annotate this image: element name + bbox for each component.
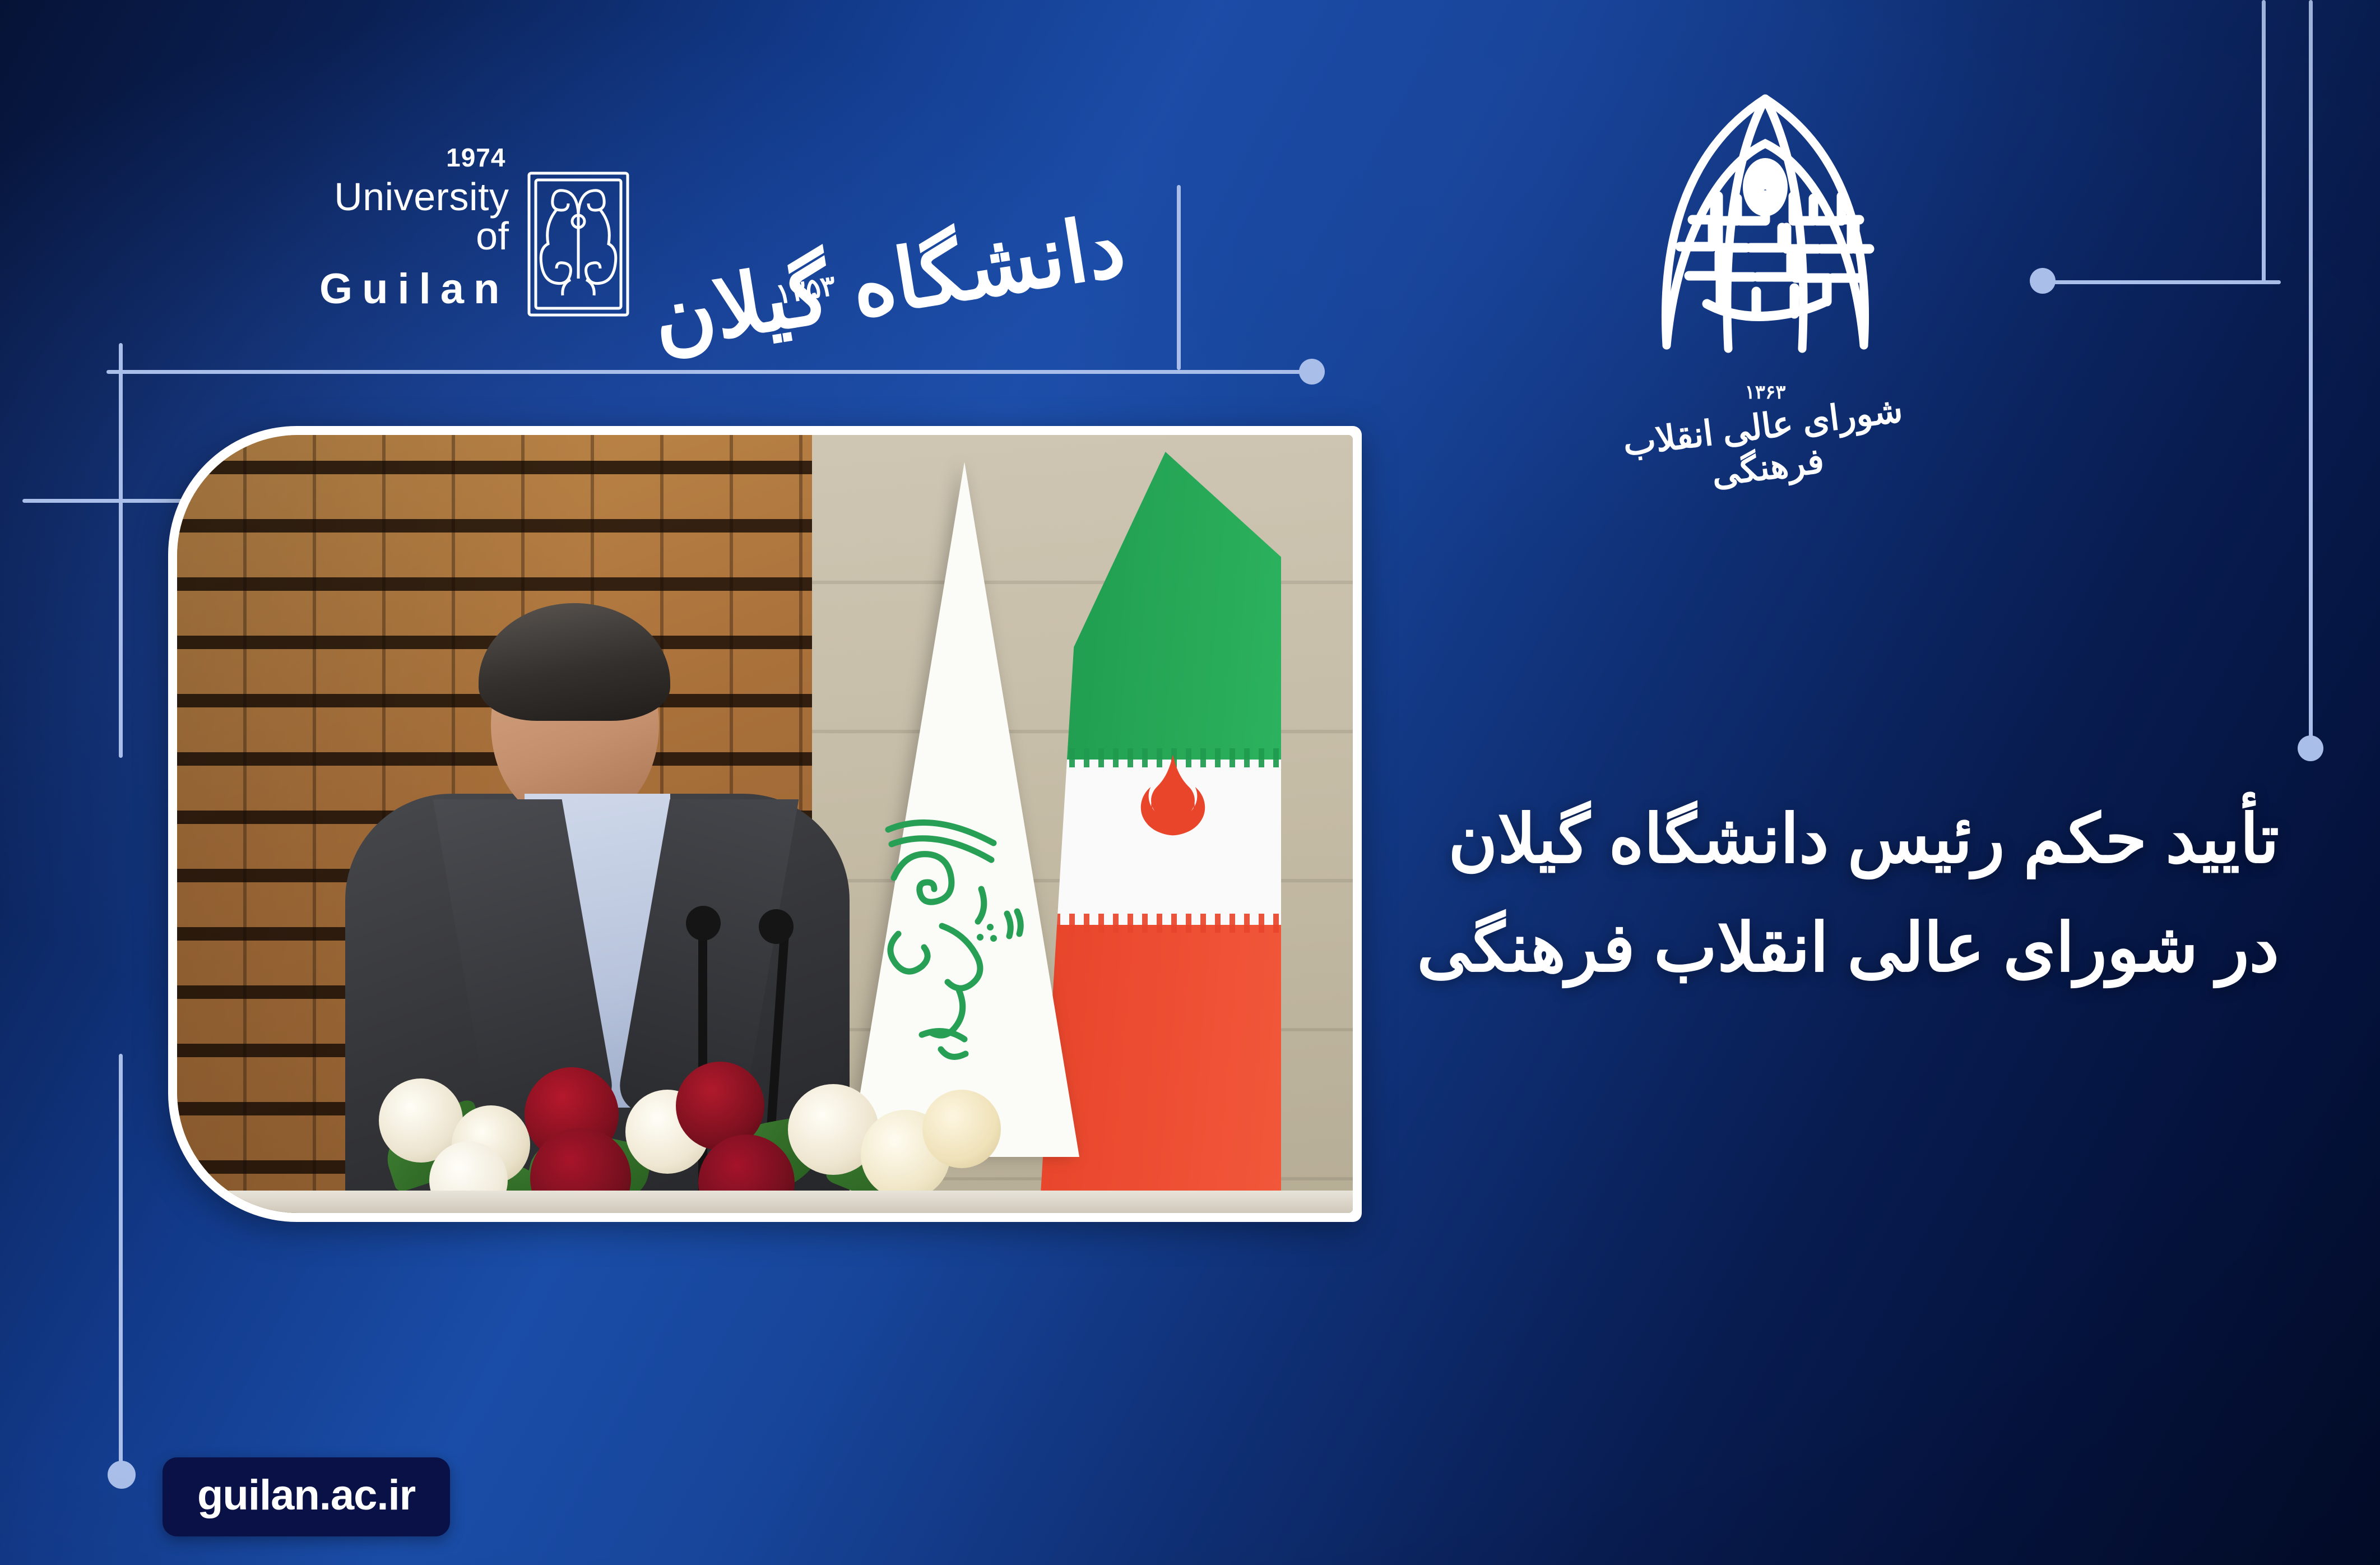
flower-bouquet	[362, 994, 978, 1213]
deco-dot-mid-upper	[1299, 359, 1325, 385]
headline-line-2: در شورای عالی انقلاب فرهنگی	[1259, 893, 2279, 1002]
supreme-council-logo: ۱۳۶۳ شورای عالی انقلاب فرهنگی	[1608, 78, 1922, 471]
deco-line-top-left-horizontal	[106, 370, 1311, 374]
deco-line-footer-vertical	[119, 1054, 123, 1469]
council-caption: شورای عالی انقلاب فرهنگی	[1604, 387, 1926, 506]
event-photo	[177, 435, 1353, 1213]
deco-line-top-left-vertical	[119, 343, 123, 758]
ug-founded-year-latin: 1974	[446, 145, 505, 170]
podium-surface	[177, 1191, 1353, 1213]
headline-line-1: تأیید حکم رئیس دانشگاه گیلان	[1259, 785, 2279, 893]
university-of-guilan-logo: 1974 University of Guilan ۱۳۵۳ دانشگاه گ…	[291, 165, 1037, 322]
website-badge[interactable]: guilan.ac.ir	[163, 1457, 450, 1536]
deco-line-right-bracket	[2262, 0, 2266, 283]
ug-logo-line2: Guilan	[291, 268, 509, 311]
deco-dot-right	[2030, 268, 2056, 294]
poster-canvas: 1974 University of Guilan ۱۳۵۳ دانشگاه گ…	[0, 0, 2380, 1565]
ug-logo-line1: University of	[291, 177, 509, 256]
deco-line-right-long	[2309, 0, 2313, 746]
ug-logo-name-persian: دانشگاه گیلان	[647, 202, 1137, 361]
deco-dot-right-long-end	[2298, 735, 2323, 761]
headline: تأیید حکم رئیس دانشگاه گیلان در شورای عا…	[1259, 785, 2279, 1003]
deco-line-right-horizontal	[2045, 280, 2281, 284]
iran-emblem-icon	[1122, 747, 1223, 848]
microphone-head-1	[686, 906, 721, 941]
ug-emblem-icon	[522, 170, 634, 318]
event-photo-frame	[168, 426, 1362, 1222]
deco-dot-footer	[108, 1461, 136, 1489]
microphone-head-2	[759, 909, 794, 944]
ug-logo-english-block: 1974 University of Guilan	[291, 177, 509, 311]
council-dome-icon	[1608, 78, 1922, 392]
